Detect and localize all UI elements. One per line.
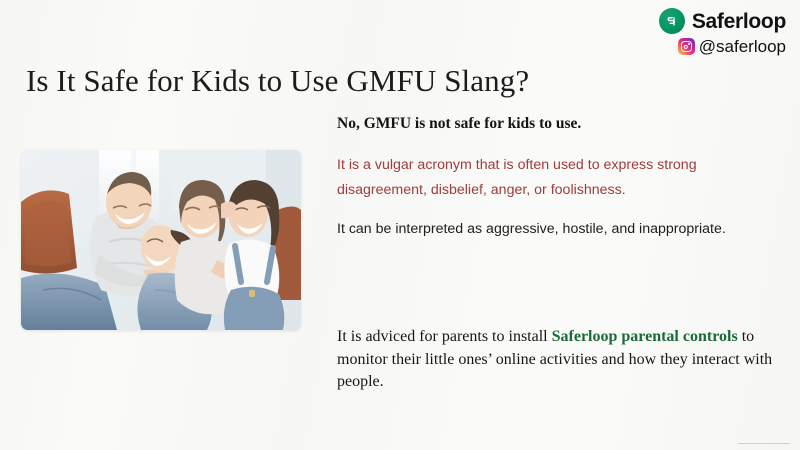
brand-row-primary: Saferloop: [659, 8, 786, 34]
brand-block: Saferloop @saferloop: [659, 8, 786, 55]
instagram-handle[interactable]: @saferloop: [699, 38, 786, 55]
lead-statement: No, GMFU is not safe for kids to use.: [337, 114, 783, 133]
slide-canvas: Saferloop @saferloop Is It Safe for Kids…: [0, 0, 800, 450]
warning-paragraph: It is a vulgar acronym that is often use…: [337, 153, 737, 202]
body-column: No, GMFU is not safe for kids to use. It…: [337, 114, 783, 241]
advice-text-before: It is adviced for parents to install: [337, 328, 552, 345]
saferloop-parental-controls-link[interactable]: Saferloop parental controls: [552, 328, 738, 345]
brand-row-social[interactable]: @saferloop: [659, 38, 786, 55]
advice-paragraph: It is adviced for parents to install Saf…: [337, 326, 785, 394]
brand-name: Saferloop: [692, 11, 786, 32]
family-photo: [21, 150, 301, 330]
page-title: Is It Safe for Kids to Use GMFU Slang?: [26, 63, 529, 99]
interpretation-paragraph: It can be interpreted as aggressive, hos…: [337, 219, 783, 240]
bottom-rule-divider: [738, 443, 790, 444]
instagram-icon[interactable]: [678, 38, 695, 55]
saferloop-logo-icon: [659, 8, 685, 34]
